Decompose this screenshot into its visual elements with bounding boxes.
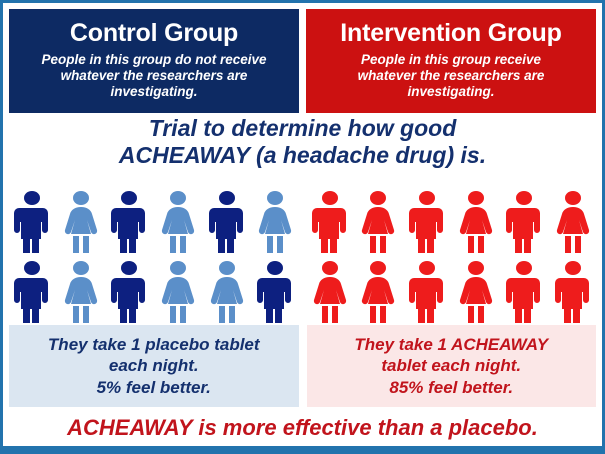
intervention-group-description: People in this group receive whatever th… (312, 52, 590, 100)
control-caption-line-1: They take 1 placebo tablet (17, 334, 291, 355)
person-male-icon (11, 261, 53, 323)
control-caption-line-2: each night. (17, 355, 291, 376)
intervention-group-panel: Intervention Group People in this group … (306, 9, 596, 113)
person-male-icon (503, 191, 545, 253)
person-male-icon (206, 191, 248, 253)
person-female-icon (157, 261, 199, 323)
person-male-icon (406, 261, 448, 323)
person-male-icon (11, 191, 53, 253)
group-captions: They take 1 placebo tablet each night. 5… (9, 325, 596, 407)
person-male-icon (108, 261, 150, 323)
control-group-description-line-3: investigating. (15, 84, 293, 100)
person-female-icon (552, 191, 594, 253)
person-female-icon (60, 261, 102, 323)
intervention-caption-line-1: They take 1 ACHEAWAY (315, 334, 589, 355)
trial-title-line-1: Trial to determine how good (3, 115, 602, 142)
trial-title: Trial to determine how good ACHEAWAY (a … (3, 115, 602, 168)
control-group-figures (9, 189, 299, 323)
person-male-icon (108, 191, 150, 253)
person-male-icon (503, 261, 545, 323)
person-female-icon (309, 261, 351, 323)
control-group-description: People in this group do not receive what… (15, 52, 293, 100)
control-group-description-line-1: People in this group do not receive (15, 52, 293, 68)
person-female-icon (157, 191, 199, 253)
intervention-group-figures (307, 189, 597, 323)
intervention-group-description-line-2: whatever the researchers are (312, 68, 590, 84)
person-male-icon (552, 261, 594, 323)
trial-title-line-2: ACHEAWAY (a headache drug) is. (3, 142, 602, 169)
infographic-frame: Control Group People in this group do no… (0, 0, 605, 454)
person-female-icon (206, 261, 248, 323)
control-group-caption: They take 1 placebo tablet each night. 5… (9, 325, 299, 407)
intervention-group-title: Intervention Group (312, 20, 590, 46)
person-female-icon (60, 191, 102, 253)
intervention-caption-line-2: tablet each night. (315, 355, 589, 376)
control-group-title: Control Group (15, 20, 293, 46)
intervention-group-description-line-1: People in this group receive (312, 52, 590, 68)
conclusion-text: ACHEAWAY is more effective than a placeb… (3, 411, 602, 445)
intervention-caption-line-3: 85% feel better. (315, 377, 589, 398)
person-female-icon (357, 261, 399, 323)
control-figure-row-2 (9, 259, 299, 323)
intervention-group-description-line-3: investigating. (312, 84, 590, 100)
person-male-icon (254, 261, 296, 323)
people-pictograms (9, 189, 596, 323)
person-female-icon (455, 261, 497, 323)
control-group-panel: Control Group People in this group do no… (9, 9, 299, 113)
control-figure-row-1 (9, 189, 299, 253)
person-male-icon (406, 191, 448, 253)
person-female-icon (254, 191, 296, 253)
intervention-figure-row-2 (307, 259, 597, 323)
person-female-icon (357, 191, 399, 253)
intervention-figure-row-1 (307, 189, 597, 253)
control-group-description-line-2: whatever the researchers are (15, 68, 293, 84)
person-female-icon (455, 191, 497, 253)
bottom-divider (3, 446, 602, 451)
person-male-icon (309, 191, 351, 253)
control-caption-line-3: 5% feel better. (17, 377, 291, 398)
intervention-group-caption: They take 1 ACHEAWAY tablet each night. … (307, 325, 597, 407)
group-headers: Control Group People in this group do no… (3, 3, 602, 113)
